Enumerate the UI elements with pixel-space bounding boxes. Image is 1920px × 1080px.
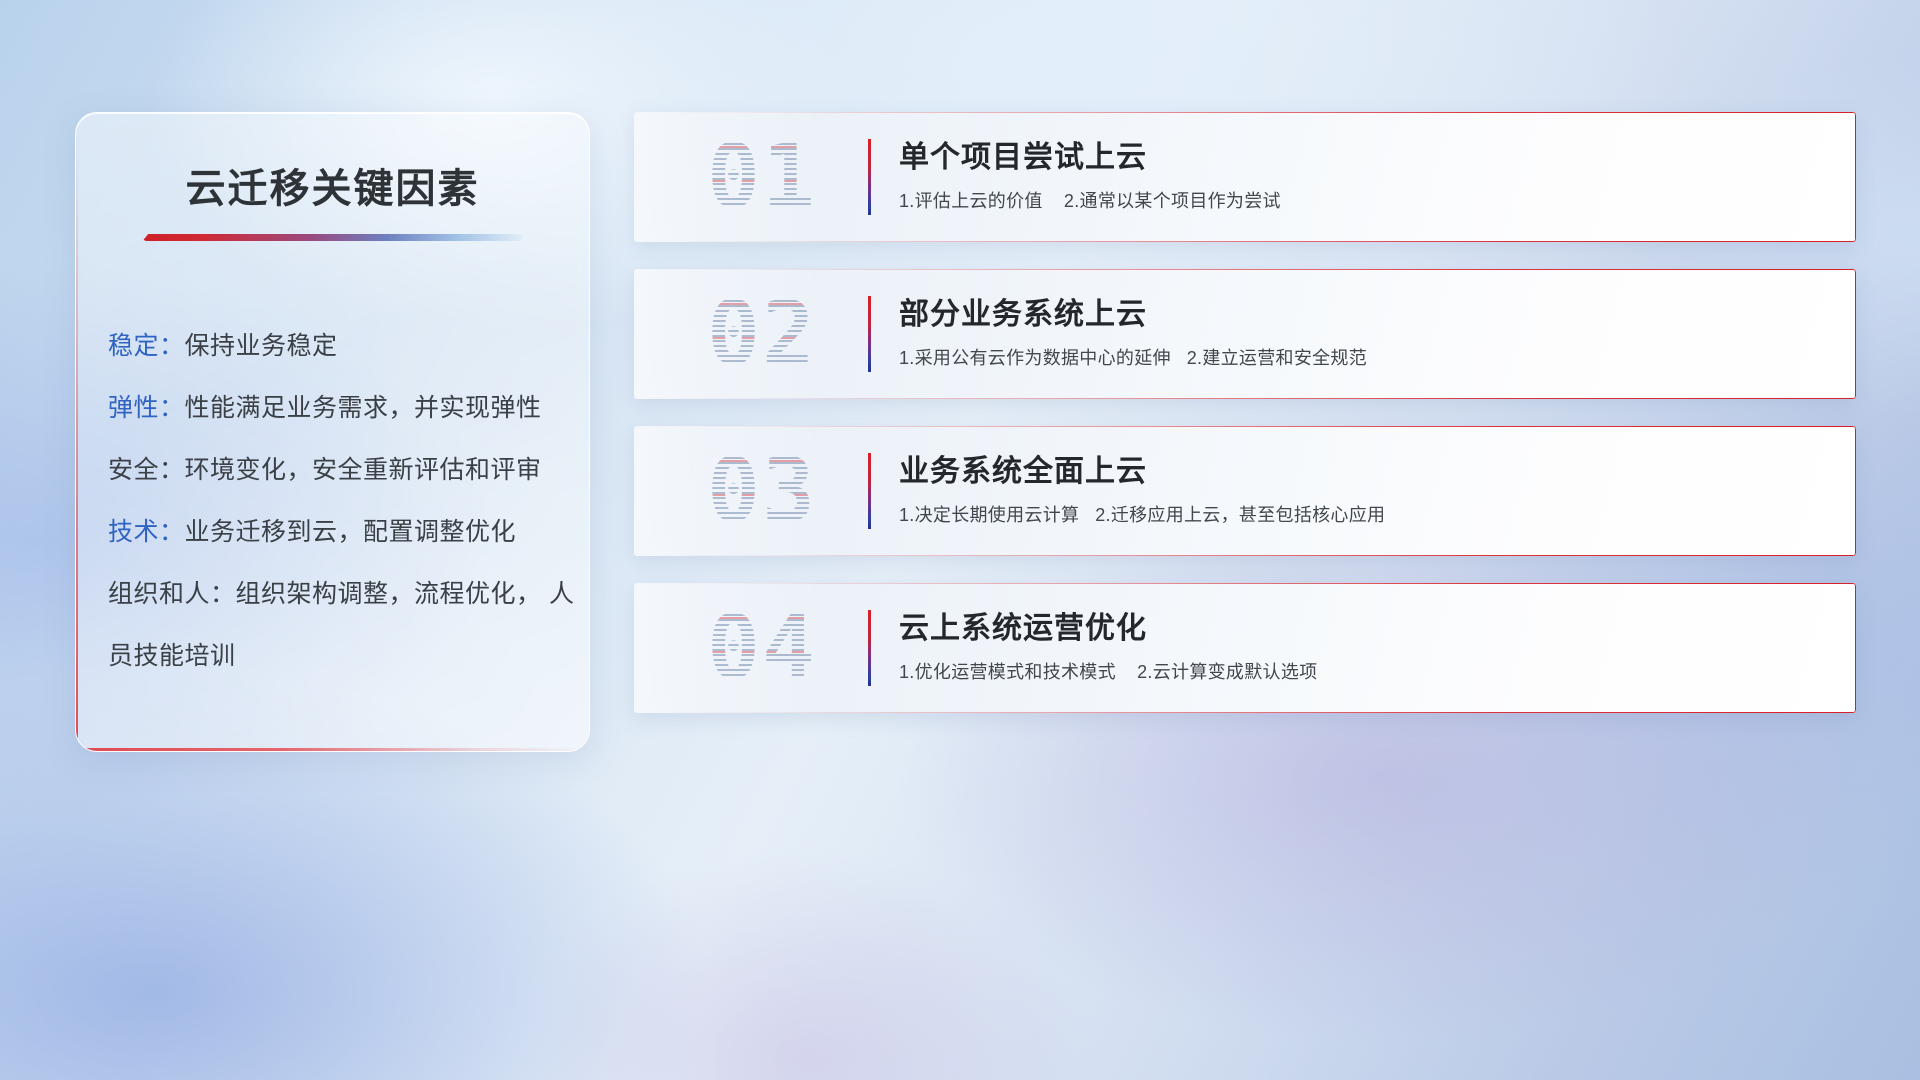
list-item: 稳定：保持业务稳定 bbox=[108, 315, 589, 377]
stage-number-glitch-overlay: 01 bbox=[656, 112, 868, 242]
stage-title: 业务系统全面上云 bbox=[899, 454, 1385, 490]
list-item: 组织和人：组织架构调整，流程优化， 人员技能培训 bbox=[108, 563, 589, 687]
stage-divider-bar bbox=[868, 139, 871, 215]
cloud-adoption-stages: 01 01 单个项目尝试上云 1.评估上云的价值 2.通常以某个项目作为尝试 0… bbox=[634, 112, 1856, 713]
key-factors-list: 稳定：保持业务稳定 弹性：性能满足业务需求，并实现弹性 安全：环境变化，安全重新… bbox=[76, 315, 589, 687]
stage-text-block: 单个项目尝试上云 1.评估上云的价值 2.通常以某个项目作为尝试 bbox=[899, 140, 1281, 213]
stage-divider-bar bbox=[868, 453, 871, 529]
stage-number-badge: 04 04 bbox=[656, 583, 868, 713]
stage-number-glitch-overlay: 03 bbox=[656, 426, 868, 556]
list-item: 弹性：性能满足业务需求，并实现弹性 bbox=[108, 377, 589, 439]
stage-text-block: 业务系统全面上云 1.决定长期使用云计算 2.迁移应用上云，甚至包括核心应用 bbox=[899, 454, 1385, 527]
stage-title: 云上系统运营优化 bbox=[899, 611, 1317, 647]
page-title: 云迁移关键因素 bbox=[76, 156, 589, 214]
factor-label: 稳定： bbox=[108, 332, 185, 360]
list-item: 安全：环境变化，安全重新评估和评审 bbox=[108, 439, 589, 501]
factor-label: 弹性： bbox=[108, 394, 185, 422]
stage-text-block: 云上系统运营优化 1.优化运营模式和技术模式 2.云计算变成默认选项 bbox=[899, 611, 1317, 684]
stage-description: 1.采用公有云作为数据中心的延伸 2.建立运营和安全规范 bbox=[899, 347, 1367, 370]
stage-number-badge: 03 03 bbox=[656, 426, 868, 556]
stage-title: 单个项目尝试上云 bbox=[899, 140, 1281, 176]
factor-value: 保持业务稳定 bbox=[185, 332, 338, 360]
factor-label: 安全： bbox=[108, 456, 185, 484]
stage-divider-bar bbox=[868, 610, 871, 686]
factor-label: 技术： bbox=[108, 518, 185, 546]
stage-number-glitch-overlay: 04 bbox=[656, 583, 868, 713]
stage-text-block: 部分业务系统上云 1.采用公有云作为数据中心的延伸 2.建立运营和安全规范 bbox=[899, 297, 1367, 370]
stage-card-03[interactable]: 03 03 业务系统全面上云 1.决定长期使用云计算 2.迁移应用上云，甚至包括… bbox=[634, 426, 1856, 556]
stage-card-04[interactable]: 04 04 云上系统运营优化 1.优化运营模式和技术模式 2.云计算变成默认选项 bbox=[634, 583, 1856, 713]
stage-description: 1.评估上云的价值 2.通常以某个项目作为尝试 bbox=[899, 190, 1281, 213]
factor-value: 性能满足业务需求，并实现弹性 bbox=[185, 394, 542, 422]
stage-description: 1.优化运营模式和技术模式 2.云计算变成默认选项 bbox=[899, 661, 1317, 684]
stage-divider-bar bbox=[868, 296, 871, 372]
stage-description: 1.决定长期使用云计算 2.迁移应用上云，甚至包括核心应用 bbox=[899, 504, 1385, 527]
stage-number-glitch-overlay: 02 bbox=[656, 269, 868, 399]
panel-left-accent-bar bbox=[76, 135, 78, 751]
factor-value: 环境变化，安全重新评估和评审 bbox=[185, 456, 542, 484]
stage-card-02[interactable]: 02 02 部分业务系统上云 1.采用公有云作为数据中心的延伸 2.建立运营和安… bbox=[634, 269, 1856, 399]
list-item: 技术：业务迁移到云，配置调整优化 bbox=[108, 501, 589, 563]
factor-label: 组织和人： bbox=[108, 580, 236, 608]
stage-number-badge: 02 02 bbox=[656, 269, 868, 399]
stage-card-01[interactable]: 01 01 单个项目尝试上云 1.评估上云的价值 2.通常以某个项目作为尝试 bbox=[634, 112, 1856, 242]
stage-title: 部分业务系统上云 bbox=[899, 297, 1367, 333]
stage-number-badge: 01 01 bbox=[656, 112, 868, 242]
key-factors-panel: 云迁移关键因素 稳定：保持业务稳定 弹性：性能满足业务需求，并实现弹性 安全：环… bbox=[75, 112, 590, 752]
title-underline-gradient bbox=[143, 234, 523, 241]
factor-value: 业务迁移到云，配置调整优化 bbox=[185, 518, 517, 546]
